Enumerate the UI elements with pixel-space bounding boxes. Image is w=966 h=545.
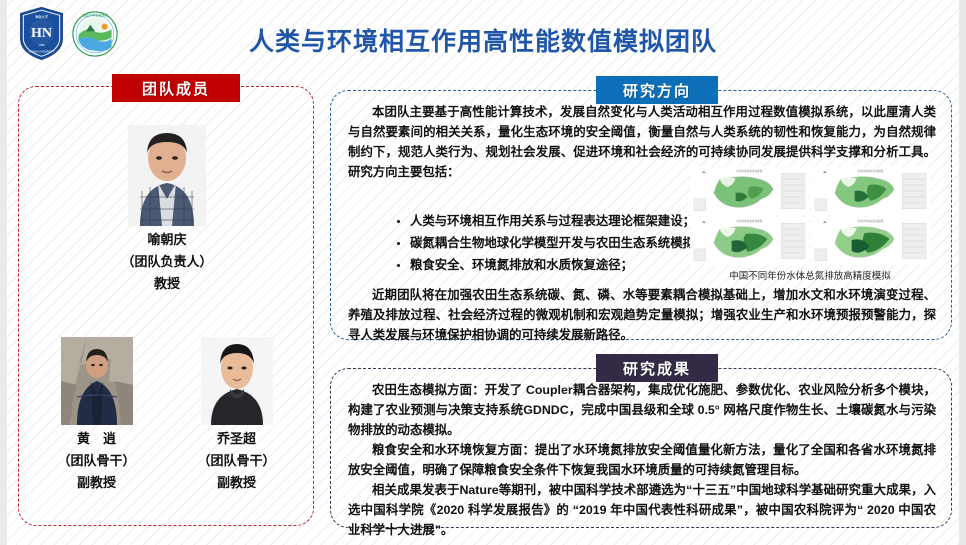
member-name: 喻朝庆 xyxy=(19,231,315,248)
china-map-grid: 中国水体总氮排放模拟 xyxy=(690,167,930,265)
member-photo-yu-chaoqing xyxy=(128,125,206,226)
research-direction-banner: 研究方向 xyxy=(596,76,718,104)
page-edge-left xyxy=(0,0,7,545)
research-results-paragraph-3: 相关成果发表于Nature等期刊，被中国科学技术部遴选为“十三五”中国地球科学基… xyxy=(348,480,936,540)
slide-canvas: HN 海南大学 1958 HAINAN UNIVERSITY 海南大学生态学院 … xyxy=(0,0,966,545)
list-item: 黄 逍 （团队骨干） 副教授 xyxy=(29,337,164,491)
china-total-nitrogen-map-4: 中国水体总氮排放模拟 xyxy=(811,217,930,265)
china-total-nitrogen-map-3: 中国水体总氮排放模拟 xyxy=(690,217,809,265)
page-title: 人类与环境相互作用高性能数值模拟团队 xyxy=(0,22,966,58)
member-role: （团队负责人） xyxy=(19,253,315,270)
team-members-panel: 喻朝庆 （团队负责人） 教授 xyxy=(18,86,314,526)
china-total-nitrogen-map-1: 中国水体总氮排放模拟 xyxy=(690,167,809,215)
research-direction-paragraph-2: 近期团队将在加强农田生态系统碳、氮、磷、水等要素耦合模拟基础上，增加水文和水环境… xyxy=(348,285,936,345)
member-title: 教授 xyxy=(19,275,315,292)
china-nitrogen-figure: 中国水体总氮排放模拟 xyxy=(690,167,930,282)
figure-caption: 中国不同年份水体总氮排放高精度模拟 xyxy=(690,268,930,282)
list-item: 粮食安全、环境氮排放和水质恢复途径； xyxy=(394,254,734,276)
member-name: 黄 逍 xyxy=(29,430,164,447)
svg-text:海南大学: 海南大学 xyxy=(35,14,49,19)
list-item: 碳氮耦合生物地球化学模型开发与农田生态系统模拟； xyxy=(394,232,734,254)
member-role: （团队骨干） xyxy=(169,452,304,469)
svg-text:中国水体总氮排放模拟: 中国水体总氮排放模拟 xyxy=(737,169,763,173)
list-item: 喻朝庆 （团队负责人） 教授 xyxy=(19,125,315,292)
svg-text:海南大学生态学院: 海南大学生态学院 xyxy=(82,12,109,17)
research-results-paragraph-1: 农田生态模拟方面：开发了 Coupler耦合器架构，集成优化施肥、参数优化、农业… xyxy=(348,380,936,440)
list-item: 乔圣超 （团队骨干） 副教授 xyxy=(169,337,304,491)
member-title: 副教授 xyxy=(169,474,304,491)
list-item: 人类与环境相互作用关系与过程表达理论框架建设； xyxy=(394,210,734,232)
member-photo-qiao-shengchao xyxy=(201,337,273,425)
research-results-banner: 研究成果 xyxy=(596,354,718,382)
research-results-paragraph-2: 粮食安全和水环境恢复方面：提出了水环境氮排放安全阈值量化新方法，量化了全国和各省… xyxy=(348,440,936,480)
china-total-nitrogen-map-2: 中国水体总氮排放模拟 xyxy=(811,167,930,215)
page-edge-right xyxy=(959,0,966,545)
member-photo-huang-xiao xyxy=(61,337,133,425)
member-name: 乔圣超 xyxy=(169,430,304,447)
svg-text:中国水体总氮排放模拟: 中国水体总氮排放模拟 xyxy=(737,219,763,223)
svg-text:中国水体总氮排放模拟: 中国水体总氮排放模拟 xyxy=(858,169,884,173)
member-role: （团队骨干） xyxy=(29,452,164,469)
svg-text:中国水体总氮排放模拟: 中国水体总氮排放模拟 xyxy=(858,219,884,223)
member-title: 副教授 xyxy=(29,474,164,491)
research-direction-bullets: 人类与环境相互作用关系与过程表达理论框架建设； 碳氮耦合生物地球化学模型开发与农… xyxy=(354,210,734,276)
team-members-banner: 团队成员 xyxy=(112,74,240,102)
